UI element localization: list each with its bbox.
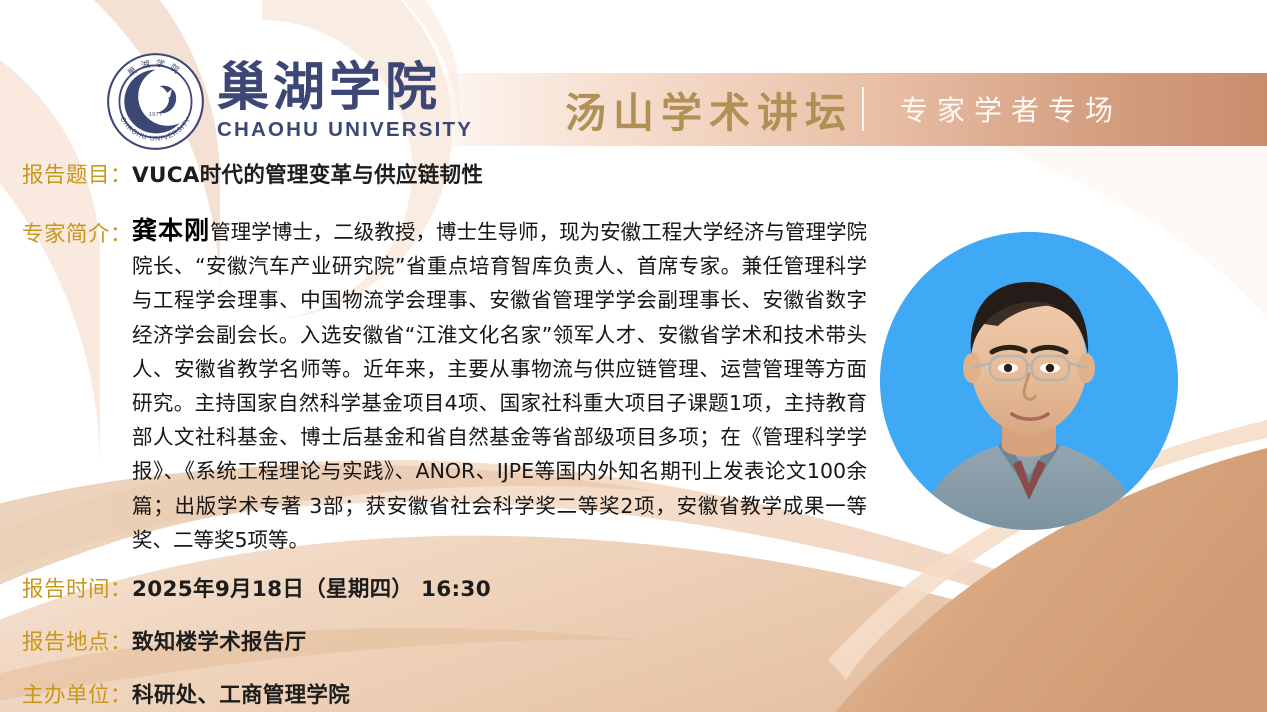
speaker-portrait-image <box>880 232 1178 530</box>
report-host-value: 科研处、工商管理学院 <box>132 678 350 709</box>
university-logo: 1977 巢湖学院 CHAOHU UNIVERSITY 巢湖学院 CHAOHU … <box>104 50 473 153</box>
report-place-label: 报告地点： <box>22 625 132 656</box>
svg-text:1977: 1977 <box>149 112 163 118</box>
speaker-bio-row: 专家简介： 龚本刚管理学博士，二级教授，博士生导师，现为安徽工程大学经济与管理学… <box>22 214 902 557</box>
university-name-en: CHAOHU UNIVERSITY <box>217 118 473 142</box>
speaker-bio-text: 管理学博士，二级教授，博士生导师，现为安徽工程大学经济与管理学院院长、“安徽汽车… <box>132 220 867 552</box>
report-time-label: 报告时间： <box>22 572 132 603</box>
banner-divider <box>862 87 864 131</box>
banner-strip: 汤山学术讲坛 专家学者专场 <box>400 73 1267 146</box>
report-place-row: 报告地点： 致知楼学术报告厅 <box>22 625 306 656</box>
report-place-value: 致知楼学术报告厅 <box>132 625 306 656</box>
poster-header: 汤山学术讲坛 专家学者专场 1977 巢湖学院 <box>0 0 1267 150</box>
report-title-label: 报告题目： <box>22 158 132 189</box>
report-title-row: 报告题目： VUCA时代的管理变革与供应链韧性 <box>22 158 483 189</box>
speaker-portrait <box>880 232 1178 530</box>
report-time-value: 2025年9月18日（星期四） 16:30 <box>132 572 491 603</box>
banner-title: 汤山学术讲坛 <box>565 78 853 138</box>
university-seal-icon: 1977 巢湖学院 CHAOHU UNIVERSITY <box>104 50 207 153</box>
speaker-bio-label: 专家简介： <box>22 214 132 248</box>
banner-subtitle: 专家学者专场 <box>900 89 1122 129</box>
report-host-label: 主办单位： <box>22 678 132 709</box>
report-time-row: 报告时间： 2025年9月18日（星期四） 16:30 <box>22 572 491 603</box>
report-title-value: VUCA时代的管理变革与供应链韧性 <box>132 158 483 189</box>
poster-canvas: 汤山学术讲坛 专家学者专场 1977 巢湖学院 <box>0 0 1267 712</box>
speaker-bio-body: 龚本刚管理学博士，二级教授，博士生导师，现为安徽工程大学经济与管理学院院长、“安… <box>132 214 867 557</box>
report-host-row: 主办单位： 科研处、工商管理学院 <box>22 678 350 709</box>
university-name-cn: 巢湖学院 <box>217 61 473 116</box>
speaker-name: 龚本刚 <box>132 216 210 245</box>
